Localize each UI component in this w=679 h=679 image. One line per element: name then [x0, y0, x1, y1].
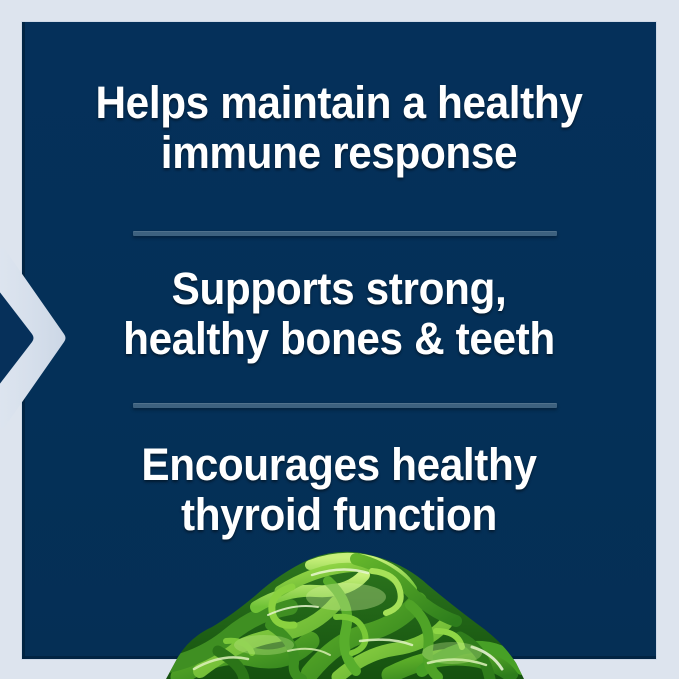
benefits-list: Helps maintain a healthy immune response… [22, 22, 656, 659]
product-benefits-graphic: Helps maintain a healthy immune response… [0, 0, 679, 679]
benefit-item-thyroid: Encourages healthy thyroid function [41, 440, 637, 540]
benefit-item-bones-teeth: Supports strong, healthy bones & teeth [41, 264, 637, 364]
benefit-divider-1 [133, 231, 557, 236]
benefit-divider-2 [133, 403, 557, 408]
benefit-item-immune: Helps maintain a healthy immune response [41, 78, 637, 178]
